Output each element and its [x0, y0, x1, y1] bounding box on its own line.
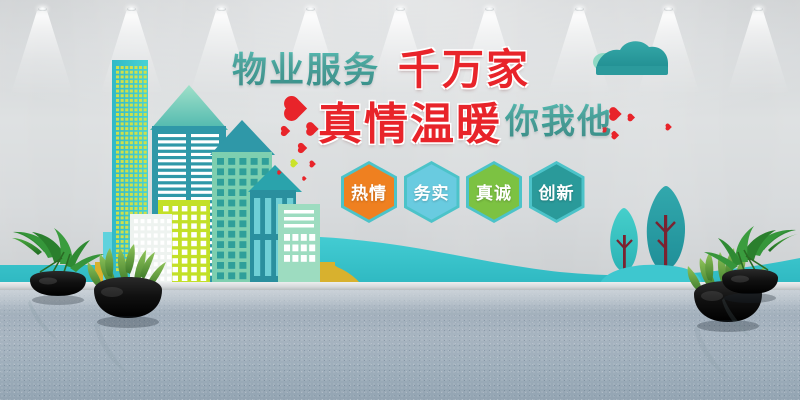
- badge-label: 真诚: [476, 179, 512, 204]
- value-badge-3[interactable]: 创新: [529, 161, 585, 223]
- badge-label: 热情: [351, 179, 387, 204]
- value-badge-0[interactable]: 热情: [341, 161, 397, 223]
- badge-label: 务实: [414, 179, 450, 204]
- cloud-shape: [593, 41, 668, 75]
- headline-line2-left: 真情温暖: [318, 88, 502, 152]
- tree-group: [600, 186, 702, 283]
- badge-label: 创新: [539, 179, 575, 204]
- value-badge-2[interactable]: 真诚: [466, 161, 522, 223]
- headline-line2-right: 你我他: [505, 94, 613, 143]
- headline-line1-left: 物业服务: [232, 42, 380, 93]
- value-badge-1[interactable]: 务实: [404, 161, 460, 223]
- floor-reflection: [0, 290, 800, 324]
- culture-wall-scene: 物业服务 千万家 真情温暖 你我他 热情务实真诚创新: [0, 0, 800, 400]
- wall-baseboard: [0, 282, 800, 290]
